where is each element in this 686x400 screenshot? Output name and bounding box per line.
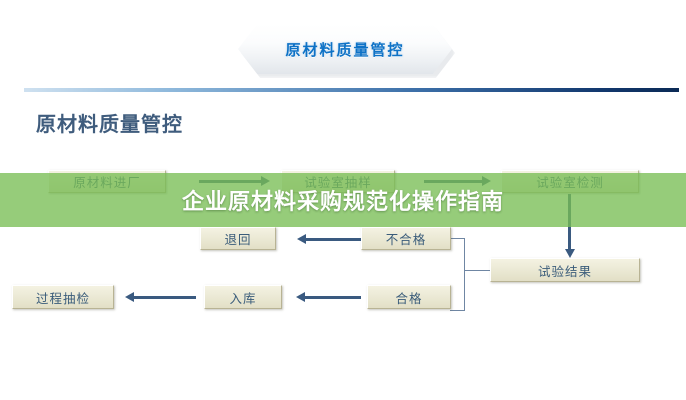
- brace-branch-qualified: [450, 310, 465, 311]
- brace-spine: [464, 238, 465, 311]
- node-label: 退回: [224, 229, 251, 248]
- banner-chevron: 原材料质量管控: [238, 24, 452, 74]
- brace-branch-unqualified: [450, 238, 465, 239]
- banner-region: 原材料质量管控: [0, 0, 686, 90]
- header-divider-rule: [24, 88, 679, 92]
- node-qualified[interactable]: 合格: [367, 285, 451, 309]
- page-title: 原材料质量管控: [36, 108, 183, 137]
- node-warehousing[interactable]: 入库: [204, 285, 282, 309]
- node-label: 不合格: [386, 229, 427, 248]
- node-label: 合格: [395, 288, 422, 307]
- edge-qualified-to-warehousing-head: [296, 292, 305, 302]
- node-unqualified[interactable]: 不合格: [361, 227, 451, 250]
- node-process-inspection[interactable]: 过程抽检: [12, 285, 114, 309]
- edge-unqualified-to-return-head: [297, 234, 306, 244]
- node-label: 入库: [229, 288, 256, 307]
- banner-title: 原材料质量管控: [285, 39, 404, 60]
- overlay-title: 企业原材料采购规范化操作指南: [0, 173, 686, 227]
- node-label: 试验结果: [538, 261, 592, 280]
- edge-unqualified-to-return-line: [306, 238, 361, 241]
- node-return[interactable]: 退回: [200, 227, 276, 250]
- edge-warehousing-to-inspection-line: [134, 296, 196, 299]
- node-label: 过程抽检: [36, 288, 90, 307]
- brace-stem: [464, 270, 490, 271]
- node-test-result[interactable]: 试验结果: [490, 258, 640, 282]
- edge-testing-to-result-head: [565, 249, 575, 258]
- edge-qualified-to-warehousing-line: [305, 296, 361, 299]
- edge-warehousing-to-inspection-head: [125, 292, 134, 302]
